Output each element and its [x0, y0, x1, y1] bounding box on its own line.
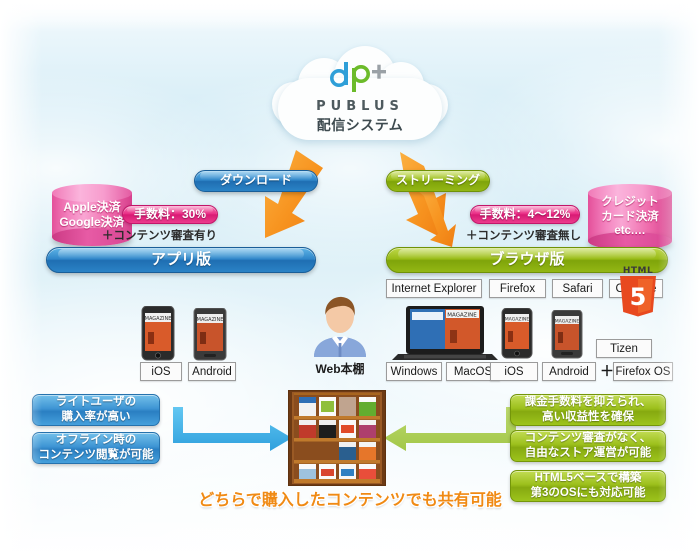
- html5-logo-icon: HTML 5: [616, 266, 660, 312]
- app-section-title[interactable]: アプリ版: [46, 247, 316, 273]
- plus-sign: ＋: [600, 361, 614, 381]
- publus-cloud: PUBLUS 配信システム: [272, 46, 448, 152]
- app-benefit-2-line-1: オフライン時の: [39, 433, 154, 448]
- publus-wordmark: PUBLUS: [316, 99, 404, 114]
- laptop-icon: MAGAZINE: [392, 306, 498, 360]
- iphone-icon-browser: MAGAZINE: [500, 308, 536, 360]
- credit-card-db: クレジット カード決済 etc.…: [588, 184, 672, 250]
- browser-review-note: ＋コンテンツ審査無し: [466, 227, 581, 243]
- app-benefit-1-line-1: ライトユーザの: [56, 395, 136, 410]
- app-benefit-1: ライトユーザの 購入率が高い: [32, 394, 160, 426]
- app-fee-text: 手数料：30%: [134, 208, 206, 222]
- browser-benefit-1: 課金手数料を抑えられ、 高い収益性を確保: [510, 394, 666, 426]
- user-avatar-icon: [310, 293, 370, 357]
- browser-label-safari: Safari: [552, 279, 603, 298]
- svg-text:MAGAZINE: MAGAZINE: [145, 316, 172, 322]
- app-payment-line-1: Apple決済: [59, 200, 124, 215]
- device-label-android-app: Android: [188, 362, 236, 381]
- app-fee-badge: 手数料：30%: [122, 205, 218, 224]
- browser-fee-badge: 手数料：4〜12%: [470, 205, 580, 224]
- iphone-icon: MAGAZINE: [140, 306, 180, 362]
- download-label-text: ダウンロード: [220, 174, 292, 188]
- diagram-canvas: PUBLUS 配信システム ダウンロード Apple決済 Google決済 手数…: [0, 0, 700, 560]
- publus-logo-icon: [330, 59, 390, 93]
- browser-benefit-2-line-2: 自由なストア運営が可能: [525, 446, 652, 461]
- device-label-windows: Windows: [386, 362, 442, 381]
- arrow-app-to-shelf: [173, 407, 292, 451]
- browser-fee-text: 手数料：4〜12%: [480, 208, 571, 222]
- browser-label-firefox: Firefox: [489, 279, 546, 298]
- browser-benefit-2-line-1: コンテンツ審査がなく、: [525, 431, 652, 446]
- browser-benefit-3-line-1: HTML5ベースで構築: [530, 471, 645, 486]
- svg-text:MAGAZINE: MAGAZINE: [447, 313, 477, 319]
- future-os-firefoxos: Firefox OS: [613, 362, 673, 381]
- device-label-android-browser: Android: [542, 362, 596, 381]
- arrow-browser-to-shelf: [384, 407, 516, 451]
- credit-line-1: クレジット: [601, 195, 659, 209]
- future-os-tizen: Tizen: [596, 339, 652, 358]
- cloud-subtitle: 配信システム: [317, 115, 404, 135]
- svg-text:MAGAZINE: MAGAZINE: [197, 317, 224, 323]
- app-section-title-text: アプリ版: [151, 251, 211, 268]
- browser-benefit-1-line-2: 高い収益性を確保: [525, 410, 652, 425]
- download-label[interactable]: ダウンロード: [194, 170, 318, 192]
- app-review-note: ＋コンテンツ審査有り: [102, 227, 217, 243]
- credit-line-2: カード決済: [601, 210, 659, 224]
- app-benefit-2: オフライン時の コンテンツ閲覧が可能: [32, 432, 160, 464]
- app-benefit-1-line-2: 購入率が高い: [56, 410, 136, 425]
- browser-benefit-1-line-1: 課金手数料を抑えられ、: [525, 395, 652, 410]
- html5-digit: 5: [630, 283, 647, 311]
- share-caption: どちらで購入したコンテンツでも共有可能: [150, 486, 550, 510]
- arrow-download: [265, 150, 323, 238]
- browser-label-ie: Internet Explorer: [386, 279, 482, 298]
- browser-benefit-2: コンテンツ審査がなく、 自由なストア運営が可能: [510, 430, 666, 462]
- svg-text:MAGAZINE: MAGAZINE: [555, 319, 580, 325]
- streaming-label[interactable]: ストリーミング: [386, 170, 490, 192]
- android-phone-icon: MAGAZINE: [192, 308, 232, 362]
- app-benefit-2-line-2: コンテンツ閲覧が可能: [39, 448, 154, 463]
- device-label-ios-app: iOS: [140, 362, 182, 381]
- svg-text:MAGAZINE: MAGAZINE: [505, 317, 530, 323]
- device-label-ios-browser: iOS: [490, 362, 538, 381]
- bookshelf-icon: [288, 390, 386, 486]
- credit-line-3: etc.…: [601, 224, 659, 238]
- person-label: Web本棚: [304, 360, 376, 377]
- browser-section-title-text: ブラウザ版: [489, 251, 564, 268]
- streaming-label-text: ストリーミング: [396, 174, 480, 188]
- android-phone-icon-browser: MAGAZINE: [550, 310, 586, 360]
